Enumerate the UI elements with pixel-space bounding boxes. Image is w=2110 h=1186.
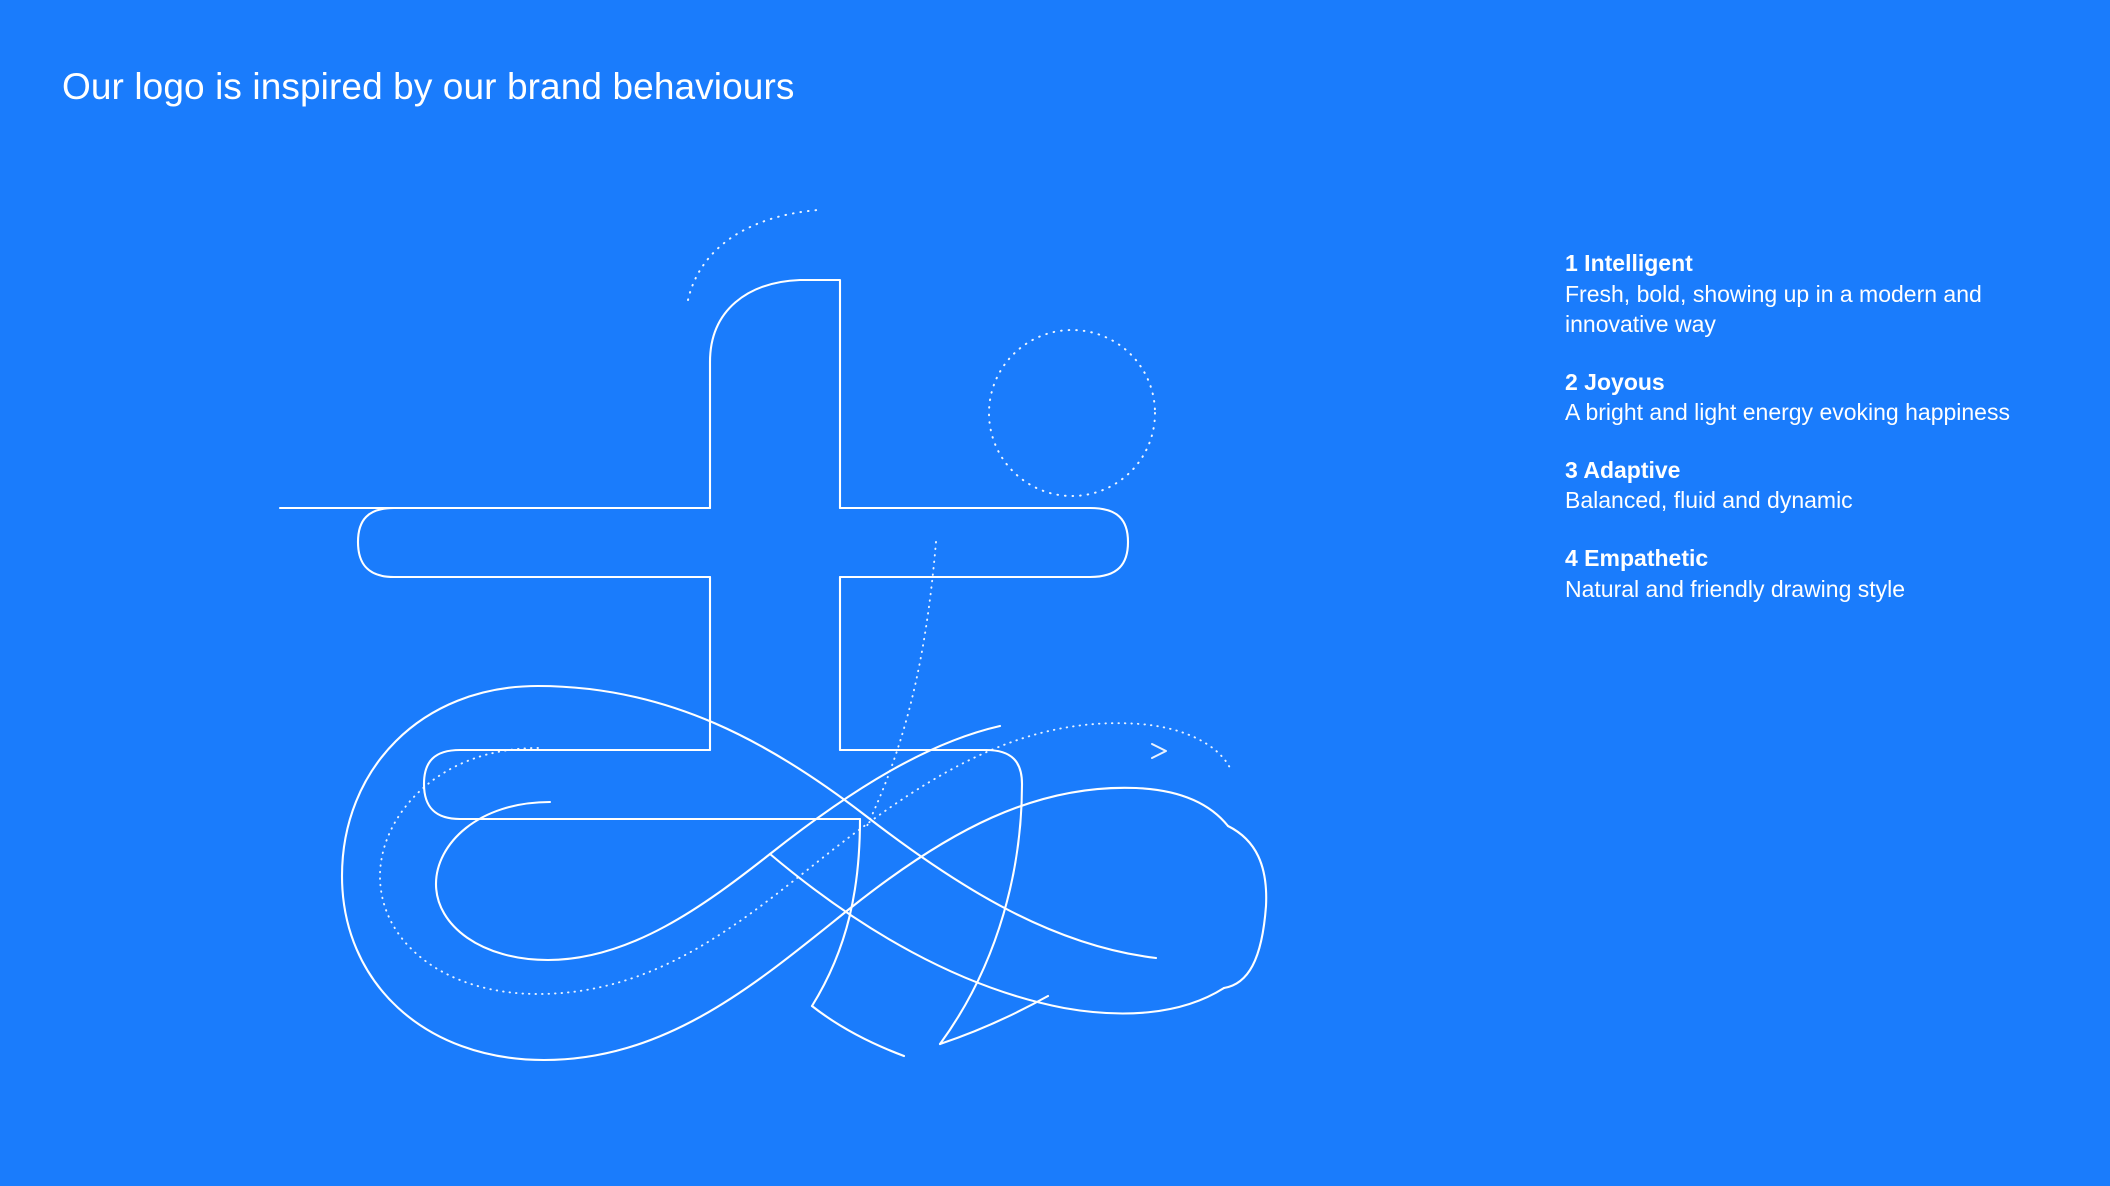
behaviour-description: Fresh, bold, showing up in a modern and …: [1565, 279, 2085, 340]
page-title: Our logo is inspired by our brand behavi…: [62, 68, 794, 105]
guide-centerline-loop: [380, 723, 1230, 994]
behaviour-item: 1 Intelligent Fresh, bold, showing up in…: [1565, 248, 2085, 340]
behaviour-description: Balanced, fluid and dynamic: [1565, 485, 2085, 516]
brand-behaviours-list: 1 Intelligent Fresh, bold, showing up in…: [1565, 248, 2085, 604]
guide-centerline-tail-arrow: [1152, 744, 1166, 758]
right-sweep-inner-edge: [812, 819, 860, 1006]
logo-construction-drawing: [300, 176, 1280, 1036]
behaviour-heading: 2 Joyous: [1565, 367, 2085, 398]
ribbon-upper-sweep: [538, 686, 1156, 958]
slide-canvas: Our logo is inspired by our brand behavi…: [0, 0, 2110, 1186]
behaviour-heading: 1 Intelligent: [1565, 248, 2085, 279]
guide-circle-right-arm-cap: [989, 330, 1155, 496]
behaviour-item: 4 Empathetic Natural and friendly drawin…: [1565, 543, 2085, 604]
vertical-stem-outline: [710, 280, 840, 508]
behaviour-item: 2 Joyous A bright and light energy evoki…: [1565, 367, 2085, 428]
upper-horizontal-bar-left-path: [358, 508, 710, 577]
lower-horizontal-bar-left-path: [424, 750, 860, 819]
ribbon-tail-cap: [1224, 826, 1266, 988]
guide-arc-above-stem: [688, 210, 818, 300]
ribbon-inner-loop-contour: [436, 726, 1000, 960]
behaviour-description: A bright and light energy evoking happin…: [1565, 397, 2085, 428]
behaviour-heading: 3 Adaptive: [1565, 455, 2085, 486]
behaviour-item: 3 Adaptive Balanced, fluid and dynamic: [1565, 455, 2085, 516]
upper-horizontal-bar-path: [840, 508, 1128, 577]
behaviour-description: Natural and friendly drawing style: [1565, 574, 2085, 605]
ribbon-crossing-connector-lower: [812, 1006, 904, 1056]
guide-centerline-sweep: [866, 542, 936, 828]
ribbon-outer-contour: [342, 686, 1228, 1060]
behaviour-heading: 4 Empathetic: [1565, 543, 2085, 574]
lower-horizontal-bar-right-path: [840, 750, 1022, 1044]
